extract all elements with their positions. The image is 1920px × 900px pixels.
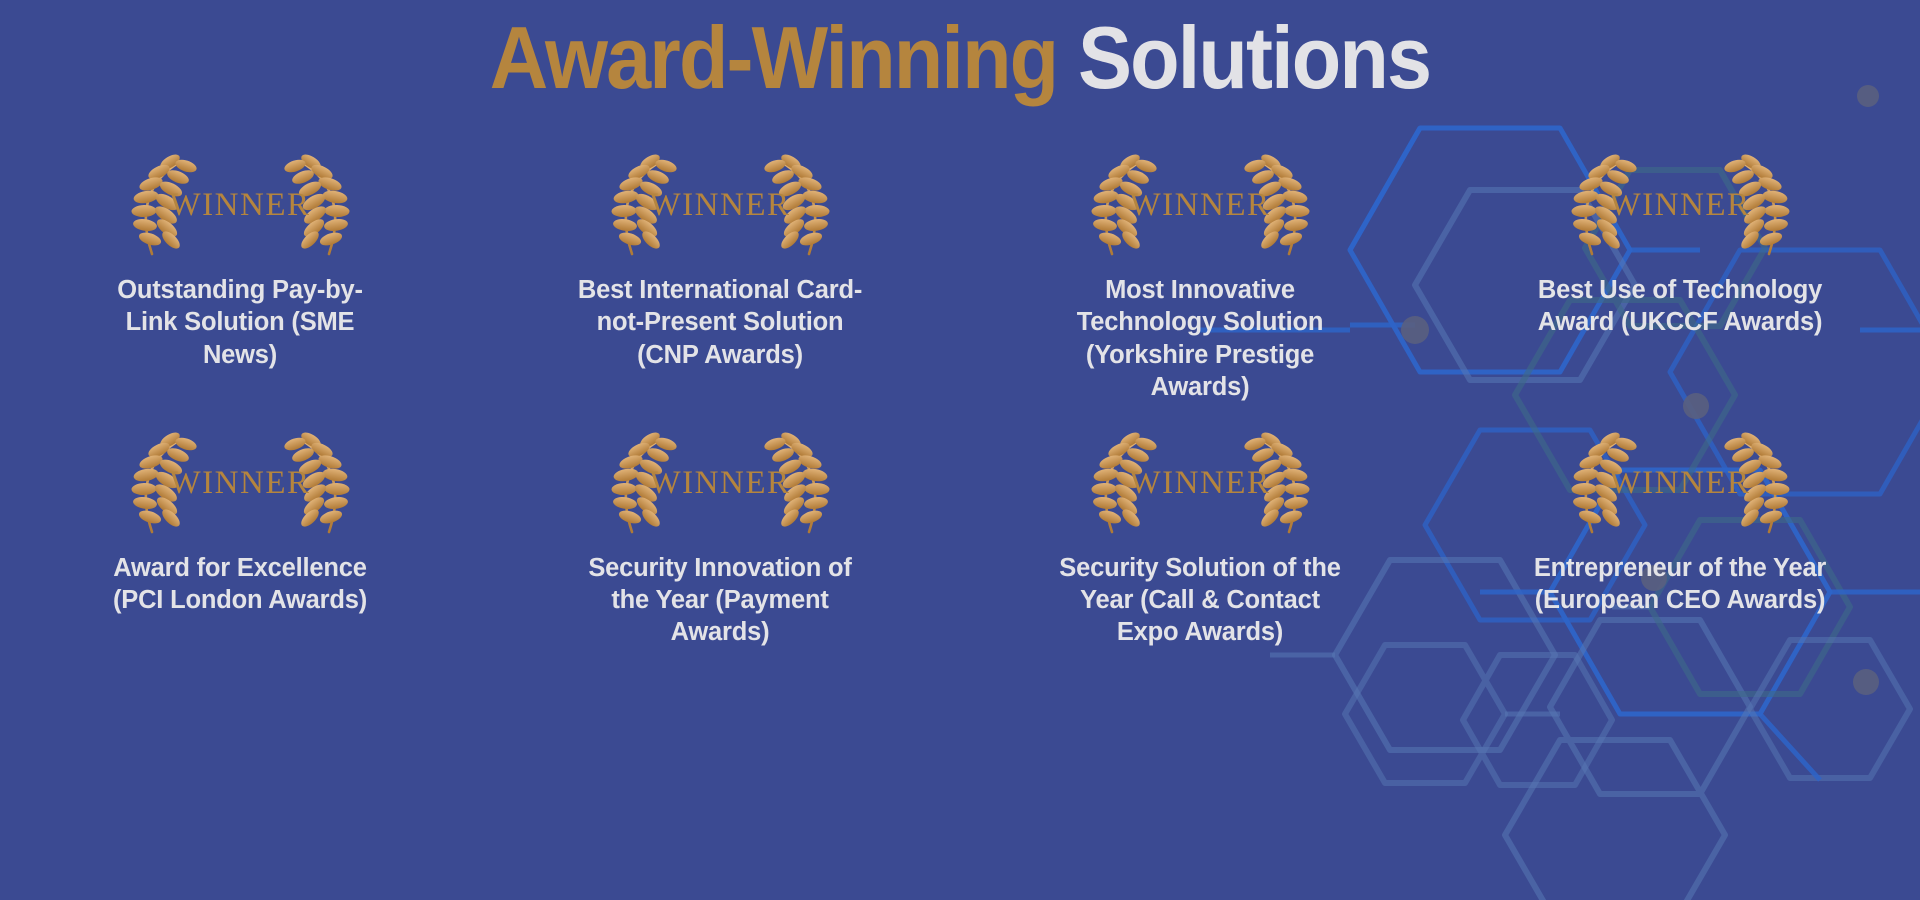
- winner-label: WINNER: [1129, 465, 1270, 501]
- winner-badge: WINNER: [108, 150, 373, 268]
- winner-label: WINNER: [649, 465, 790, 501]
- winner-label: WINNER: [1129, 187, 1270, 223]
- award-caption: Best International Card-not-Present Solu…: [570, 274, 870, 371]
- award-card-entrepreneur-of-the-year: WINNER Entrepreneur of the Year (Europea…: [1440, 426, 1920, 649]
- winner-label: WINNER: [169, 465, 310, 501]
- award-caption: Security Solution of the Year (Call & Co…: [1050, 552, 1350, 649]
- page-title-gold: Award-Winning: [490, 8, 1078, 107]
- winner-badge: WINNER: [1548, 428, 1813, 546]
- award-card-security-solution-of-the-year: WINNER Security Solution of the Year (Ca…: [960, 426, 1440, 649]
- page-title: Award-Winning Solutions: [0, 12, 1920, 104]
- winner-label: WINNER: [1609, 187, 1750, 223]
- winner-badge: WINNER: [1068, 428, 1333, 546]
- award-card-best-use-of-technology: WINNER Best Use of Technology Award (UKC…: [1440, 150, 1920, 404]
- winner-badge: WINNER: [588, 150, 853, 268]
- winner-label: WINNER: [1609, 465, 1750, 501]
- winner-badge: WINNER: [108, 428, 373, 546]
- award-caption: Award for Excellence (PCI London Awards): [110, 552, 370, 617]
- winner-label: WINNER: [649, 187, 790, 223]
- award-caption: Most Innovative Technology Solution (Yor…: [1050, 274, 1350, 404]
- award-card-best-international-cnp: WINNER Best International Card-not-Prese…: [480, 150, 960, 404]
- award-caption: Best Use of Technology Award (UKCCF Awar…: [1530, 274, 1830, 339]
- award-caption: Security Innovation of the Year (Payment…: [570, 552, 870, 649]
- winner-badge: WINNER: [588, 428, 853, 546]
- award-caption: Entrepreneur of the Year (European CEO A…: [1530, 552, 1830, 617]
- winner-label: WINNER: [169, 187, 310, 223]
- winner-badge: WINNER: [1548, 150, 1813, 268]
- award-card-security-innovation-of-the-year: WINNER Security Innovation of the Year (…: [480, 426, 960, 649]
- award-card-most-innovative-technology: WINNER Most Innovative Technology Soluti…: [960, 150, 1440, 404]
- winner-badge: WINNER: [1068, 150, 1333, 268]
- page-title-light: Solutions: [1078, 8, 1430, 107]
- award-card-award-for-excellence: WINNER Award for Excellence (PCI London …: [0, 426, 480, 649]
- award-caption: Outstanding Pay-by-Link Solution (SME Ne…: [110, 274, 370, 371]
- award-card-outstanding-pay-by-link: WINNER Outstanding Pay-by-Link Solution …: [0, 150, 480, 404]
- awards-grid: WINNER Outstanding Pay-by-Link Solution …: [0, 150, 1920, 649]
